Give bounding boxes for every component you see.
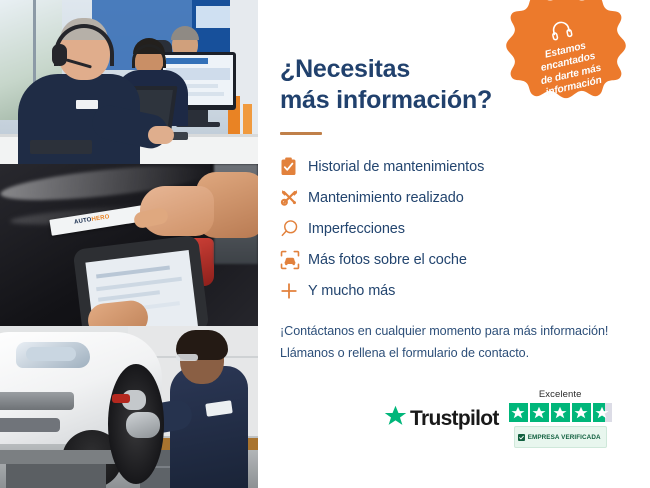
trustpilot-score-block: Excelente <box>509 389 612 448</box>
trustpilot-star-row <box>509 403 612 422</box>
trustpilot-rating-label: Excelente <box>539 389 582 400</box>
content-panel: ¿Necesitas más información? Historial de… <box>258 0 650 488</box>
magnifier-icon <box>280 219 308 238</box>
help-badge: Estamos encantados de darte más informac… <box>505 0 627 114</box>
contact-line-1: ¡Contáctanos en cualquier momento para m… <box>280 324 608 338</box>
trustpilot-star-4 <box>572 403 591 422</box>
page-title: ¿Necesitas más información? <box>280 54 530 116</box>
photo1-poster-image <box>196 6 234 28</box>
feature-label: Y mucho más <box>308 283 395 299</box>
feature-label: Imperfecciones <box>308 221 405 237</box>
photo3-lower-grille <box>0 418 60 432</box>
photo3-safety-glasses <box>176 354 198 361</box>
title-underline-rule <box>280 132 322 135</box>
photo1-person1-headset-earcup <box>52 44 67 66</box>
clipboard-check-icon <box>280 157 308 176</box>
trustpilot-logo[interactable]: Trustpilot <box>384 405 499 432</box>
contact-text: ¡Contáctanos en cualquier momento para m… <box>280 320 628 364</box>
photo3-headlight-inner <box>26 347 76 361</box>
car-photo-frame-icon <box>280 250 308 270</box>
verified-company-label: EMPRESA VERIFICADA <box>528 434 601 441</box>
feature-item-historial: Historial de mantenimientos <box>280 151 628 182</box>
feature-item-imperfecciones: Imperfecciones <box>280 213 628 244</box>
photo-call-center-agents-with-headsets <box>0 0 258 164</box>
photo3-lift-base <box>6 464 106 488</box>
feature-item-mas-fotos: Más fotos sobre el coche <box>280 244 628 275</box>
trustpilot-star-1 <box>509 403 528 422</box>
photo1-person1-name-badge <box>76 100 98 109</box>
promo-card: AUTOHERO <box>0 0 650 488</box>
page-title-line-2: más información? <box>280 86 492 114</box>
trustpilot-star-2 <box>530 403 549 422</box>
feature-list: Historial de mantenimientos M <box>280 151 628 306</box>
feature-label: Mantenimiento realizado <box>308 190 464 206</box>
feature-item-mantenimiento: Mantenimiento realizado <box>280 182 628 213</box>
trustpilot-star-3 <box>551 403 570 422</box>
headset-icon <box>548 18 574 46</box>
feature-label: Historial de mantenimientos <box>308 159 484 175</box>
photo3-mechanic-glove <box>126 412 160 438</box>
trustpilot-star-5-partial <box>593 403 612 422</box>
verified-check-icon <box>518 428 525 446</box>
photo3-front-grille <box>0 392 74 410</box>
photo1-keyboard <box>30 140 92 154</box>
trustpilot-rating[interactable]: Trustpilot Excelente <box>384 389 612 448</box>
plus-icon <box>280 282 308 300</box>
feature-item-mucho-mas: Y mucho más <box>280 275 628 306</box>
tools-cross-icon <box>280 188 308 207</box>
badge-text: Estamos encantados de darte más informac… <box>534 38 605 100</box>
page-title-line-1: ¿Necesitas <box>280 55 410 83</box>
verified-company-badge: EMPRESA VERIFICADA <box>514 426 607 448</box>
photo1-screen-header-bar <box>166 58 208 64</box>
trustpilot-wordmark: Trustpilot <box>410 407 499 431</box>
photo3-hand-tool <box>112 394 130 403</box>
contact-line-2: Llámanos o rellena el formulario de cont… <box>280 346 529 360</box>
photo-inspector-measuring-car-with-autohero-ruler: AUTOHERO <box>0 164 258 326</box>
feature-label: Más fotos sobre el coche <box>308 252 467 268</box>
photo-column: AUTOHERO <box>0 0 258 488</box>
trustpilot-star-icon <box>384 405 407 432</box>
photo1-person1-hand <box>148 126 174 144</box>
photo-mechanic-inspecting-wheel-on-lift <box>0 326 258 488</box>
photo3-lift-arm <box>0 450 118 464</box>
